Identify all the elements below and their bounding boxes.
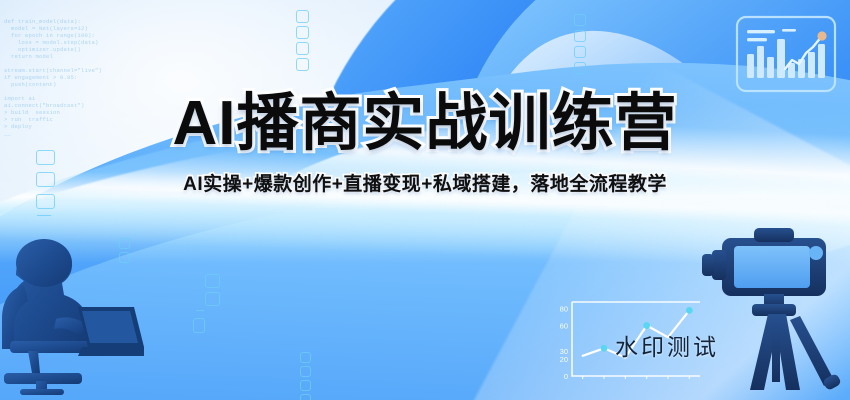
chart-point (686, 307, 693, 314)
accent-square-12 (296, 42, 309, 55)
y-axis-tick: 0 (564, 372, 568, 381)
person-at-laptop-silhouette (0, 223, 144, 400)
y-axis-tick: 80 (560, 305, 568, 314)
camera-tripod-icon (694, 220, 846, 395)
promo-banner: def train_model(data): model = Net(layer… (0, 0, 850, 400)
accent-square-18 (300, 352, 311, 363)
accent-square-9 (193, 318, 205, 333)
accent-square-16 (574, 46, 586, 58)
accent-square-7 (205, 292, 220, 306)
bar-chart-growth-logo (734, 14, 838, 99)
watermark-text: 水印测试 (615, 328, 719, 362)
accent-square-11 (296, 26, 309, 39)
accent-square-15 (574, 30, 586, 42)
accent-square-2 (36, 194, 55, 209)
chart-point (601, 345, 608, 352)
camera-tripod-silhouette (694, 220, 846, 400)
accent-square-14 (574, 14, 586, 26)
y-axis-tick: 60 (560, 322, 568, 331)
accent-square-6 (205, 274, 220, 288)
page-title: AI播商实战训练营 (172, 92, 677, 155)
accent-square-21 (300, 394, 311, 400)
accent-square-19 (300, 366, 311, 377)
accent-square-3 (37, 215, 51, 216)
y-axis-tick: 20 (560, 355, 568, 364)
accent-square-10 (296, 10, 309, 23)
accent-square-20 (300, 380, 311, 391)
accent-square-17 (574, 62, 586, 74)
y-axis-tick: 30 (560, 347, 568, 356)
headline-block: AI播商实战训练营 AI实操+爆款创作+直播变现+私域搭建，落地全流程教学 (0, 92, 850, 196)
bar-chart-growth-icon (734, 14, 838, 94)
person-laptop-icon (0, 223, 144, 395)
accent-square-13 (296, 58, 309, 71)
page-subtitle: AI实操+爆款创作+直播变现+私域搭建，落地全流程教学 (183, 169, 667, 196)
accent-square-8 (196, 310, 204, 311)
